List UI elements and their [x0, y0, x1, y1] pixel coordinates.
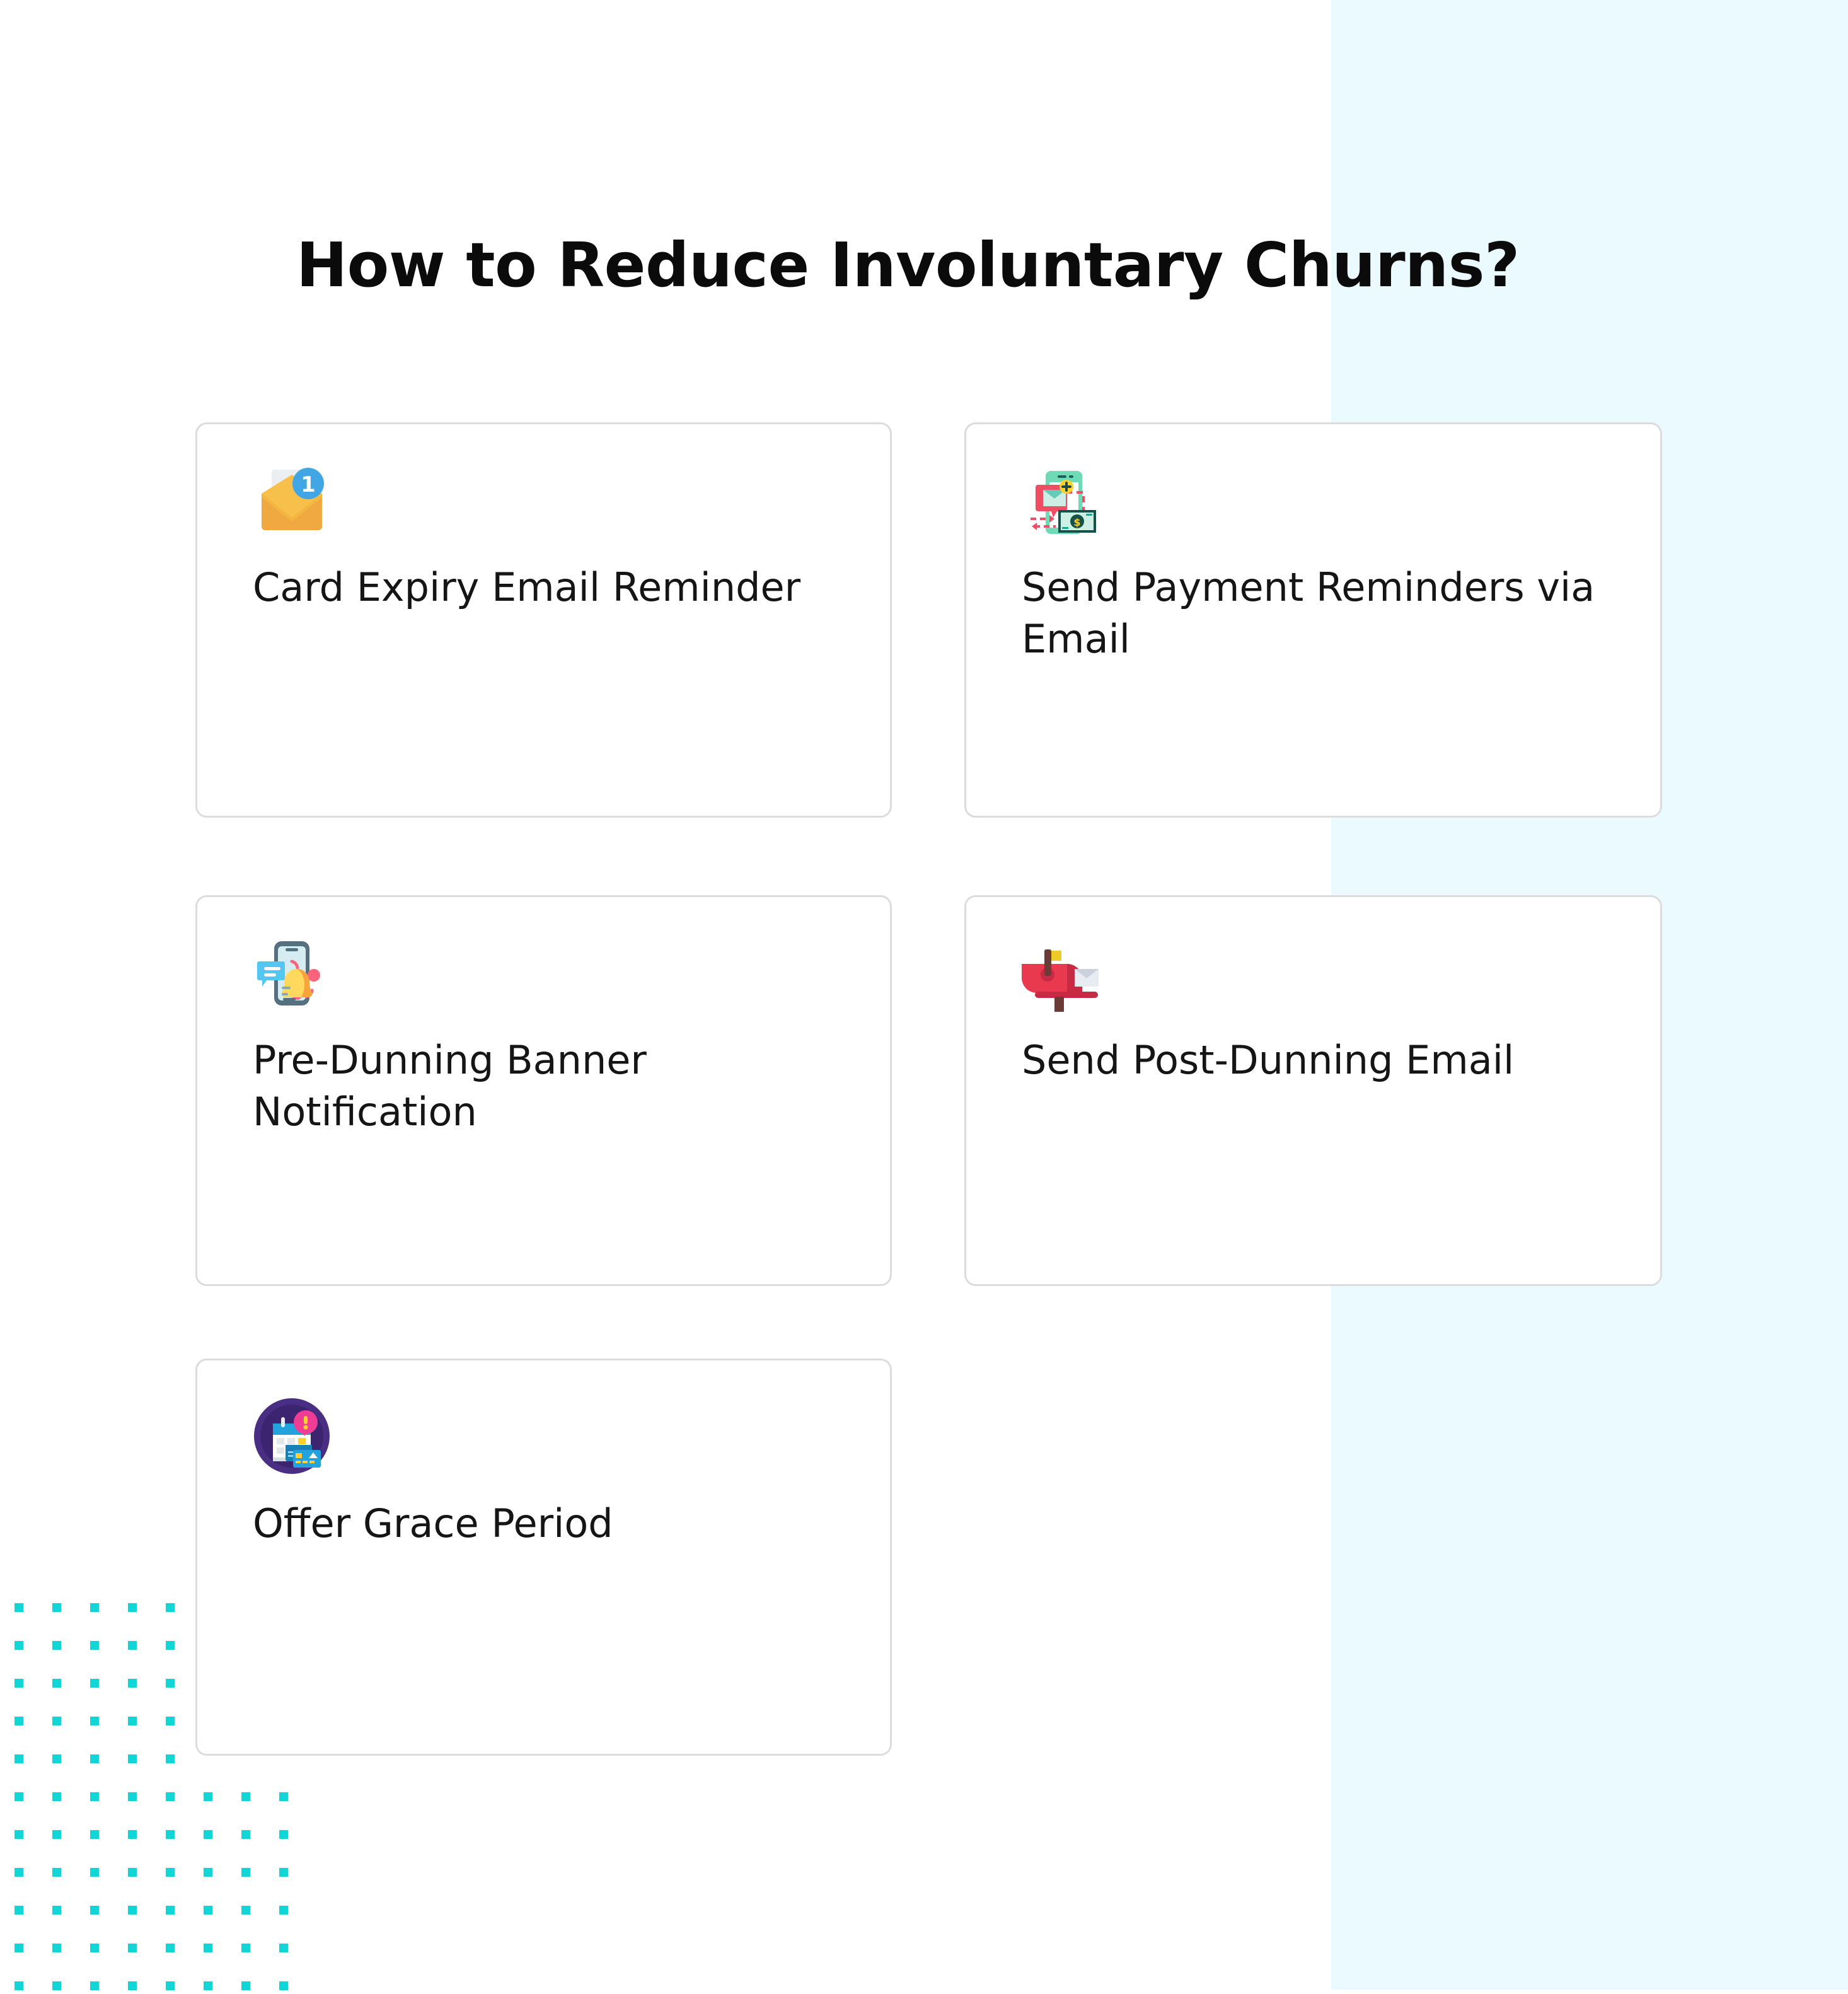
decorative-dot	[52, 1830, 61, 1839]
card-label: Send Payment Reminders via Email	[1022, 562, 1602, 665]
decorative-dot	[14, 1754, 23, 1763]
card-grid: 1 Card Expiry Email Reminder $	[195, 422, 1664, 1759]
mailbox-letter-icon	[1022, 934, 1100, 1012]
decorative-dot	[166, 1981, 175, 1990]
decorative-dot	[204, 1792, 212, 1801]
decorative-dot	[14, 1868, 23, 1877]
decorative-dot	[52, 1906, 61, 1915]
decorative-dot	[128, 1792, 137, 1801]
decorative-dot	[52, 1754, 61, 1763]
decorative-dot	[128, 1981, 137, 1990]
decorative-dot	[166, 1717, 175, 1725]
decorative-dot	[279, 1830, 288, 1839]
decorative-dot	[90, 1641, 99, 1650]
decorative-dot	[204, 1830, 212, 1839]
decorative-dot	[52, 1641, 61, 1650]
decorative-dot	[52, 1603, 61, 1612]
decorative-dot	[14, 1830, 23, 1839]
decorative-dot	[279, 1868, 288, 1877]
decorative-dot	[128, 1830, 137, 1839]
decorative-dot	[14, 1603, 23, 1612]
decorative-dot	[52, 1792, 61, 1801]
decorative-dot	[90, 1754, 99, 1763]
decorative-dot	[128, 1603, 137, 1612]
decorative-dot	[166, 1679, 175, 1688]
card-send-post-dunning-email[interactable]: Send Post-Dunning Email	[964, 895, 1662, 1286]
decorative-dot	[14, 1981, 23, 1990]
decorative-dot	[166, 1603, 175, 1612]
decorative-dot	[14, 1792, 23, 1801]
decorative-dot	[166, 1830, 175, 1839]
card-label: Offer Grace Period	[253, 1498, 833, 1550]
decorative-dot	[166, 1944, 175, 1952]
decorative-dot	[14, 1906, 23, 1915]
card-label: Card Expiry Email Reminder	[253, 562, 833, 613]
card-label: Pre-Dunning Banner Notification	[253, 1035, 833, 1138]
decorative-dot	[128, 1754, 137, 1763]
decorative-dot	[90, 1868, 99, 1877]
decorative-dot	[128, 1679, 137, 1688]
decorative-dot	[52, 1868, 61, 1877]
decorative-dot	[90, 1944, 99, 1952]
decorative-dot	[241, 1981, 250, 1990]
decorative-dot	[128, 1906, 137, 1915]
decorative-dot	[166, 1868, 175, 1877]
card-send-payment-reminders-via-email[interactable]: $ Send Payment Reminders via Email	[964, 422, 1662, 818]
decorative-dot	[241, 1906, 250, 1915]
decorative-dot	[128, 1868, 137, 1877]
decorative-dot	[52, 1944, 61, 1952]
decorative-dot	[166, 1754, 175, 1763]
decorative-dot	[241, 1792, 250, 1801]
decorative-dot	[204, 1906, 212, 1915]
page-title: How to Reduce Involuntary Churns?	[296, 230, 1557, 301]
decorative-dot	[166, 1641, 175, 1650]
decorative-dot	[52, 1981, 61, 1990]
decorative-dot	[279, 1981, 288, 1990]
decorative-dot	[90, 1830, 99, 1839]
decorative-dot	[14, 1717, 23, 1725]
decorative-dot	[204, 1944, 212, 1952]
decorative-dot	[204, 1868, 212, 1877]
envelope-notification-icon: 1	[253, 461, 331, 539]
decorative-dot	[90, 1981, 99, 1990]
decorative-dot	[14, 1944, 23, 1952]
decorative-dot	[204, 1981, 212, 1990]
decorative-dot	[128, 1717, 137, 1725]
decorative-dot	[14, 1679, 23, 1688]
decorative-dot	[90, 1906, 99, 1915]
decorative-dot	[279, 1944, 288, 1952]
decorative-dot	[279, 1792, 288, 1801]
phone-payment-email-icon: $	[1022, 461, 1100, 539]
card-offer-grace-period[interactable]: Offer Grace Period	[195, 1359, 892, 1756]
svg-text:$: $	[1073, 516, 1080, 528]
decorative-dot	[128, 1944, 137, 1952]
decorative-dot	[166, 1792, 175, 1801]
decorative-dot	[90, 1679, 99, 1688]
calendar-card-alert-icon	[253, 1397, 331, 1475]
decorative-dot	[90, 1792, 99, 1801]
decorative-dot	[52, 1717, 61, 1725]
decorative-dot	[90, 1717, 99, 1725]
decorative-dot	[128, 1641, 137, 1650]
decorative-dot	[241, 1868, 250, 1877]
decorative-dot	[14, 1641, 23, 1650]
decorative-dot	[90, 1603, 99, 1612]
phone-bell-notification-icon	[253, 934, 331, 1012]
svg-text:1: 1	[301, 472, 316, 497]
decorative-dot	[279, 1906, 288, 1915]
card-label: Send Post-Dunning Email	[1022, 1035, 1602, 1086]
decorative-dot	[241, 1944, 250, 1952]
decorative-dot	[52, 1679, 61, 1688]
decorative-dot	[166, 1906, 175, 1915]
decorative-dot	[241, 1830, 250, 1839]
card-card-expiry-email-reminder[interactable]: 1 Card Expiry Email Reminder	[195, 422, 892, 818]
card-pre-dunning-banner-notification[interactable]: Pre-Dunning Banner Notification	[195, 895, 892, 1286]
